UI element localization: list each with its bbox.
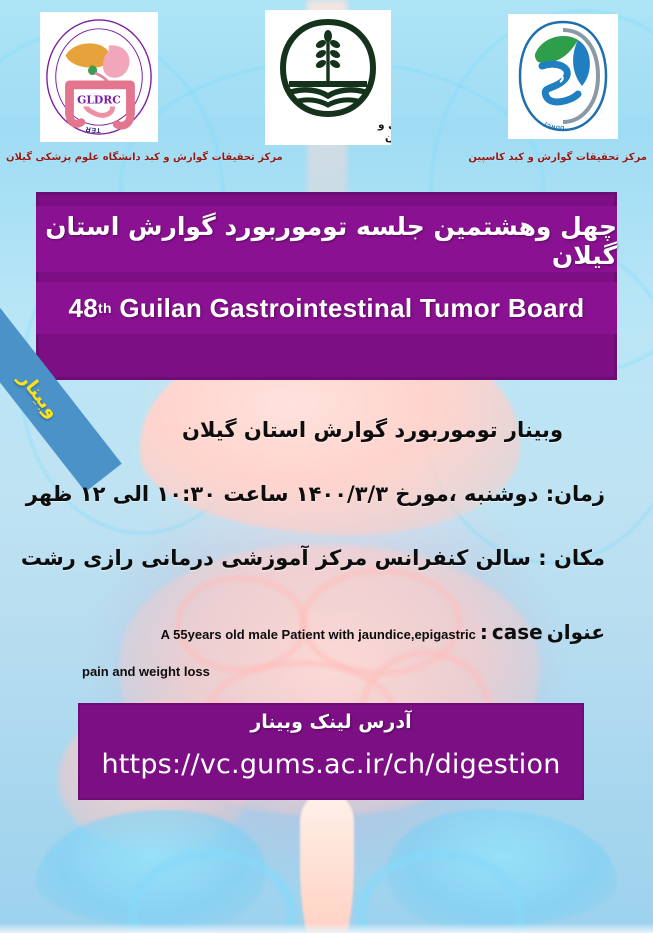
case-colon: : (480, 620, 488, 644)
svg-text:خدمات بهداشتی درمانی استان گیل: خدمات بهداشتی درمانی استان گیلان (385, 131, 391, 144)
title-banner: چهل وهشتمین جلسه توموربورد گوارش استان گ… (36, 192, 617, 380)
webinar-link-title: آدرس لینک وبینار (78, 711, 584, 733)
case-description-line1: A 55years old male Patient with jaundice… (161, 627, 476, 642)
rectum-illustration (300, 794, 354, 933)
gums-logo-graphic: دانشگاه علوم پزشکی و خدمات بهداشتی درمان… (265, 10, 391, 145)
webinar-link-url[interactable]: https://vc.gums.ac.ir/ch/digestion (78, 749, 584, 780)
bottom-fade (0, 923, 653, 933)
title-farsi: چهل وهشتمین جلسه توموربورد گوارش استان گ… (36, 210, 617, 272)
case-word: case (492, 620, 543, 644)
poster: GLDRC GASTROINTESTINAL AND LIVER DISEASE… (0, 0, 653, 933)
event-time-line: زمان: دوشنبه ،مورخ ۱۴۰۰/۳/۳ ساعت ۱۰:۳۰ ا… (26, 482, 605, 506)
svg-text:دانشگاه علوم پزشکی و: دانشگاه علوم پزشکی و (377, 118, 391, 131)
case-label: عنوان (547, 620, 605, 644)
title-ordinal-number: 48 (69, 293, 99, 324)
case-title-row: عنوان case : A 55years old male Patient … (161, 620, 605, 644)
case-description-line2: pain and weight loss (82, 664, 210, 679)
pelvis-illustration (0, 798, 653, 933)
event-place-line: مکان : سالن کنفرانس مرکز آموزشی درمانی ر… (21, 546, 605, 570)
webinar-title-line: وبینار توموربورد گوارش استان گیلان (182, 418, 563, 442)
svg-text:GLDRC: GLDRC (77, 94, 121, 107)
gldrc-caption: مرکز تحقیقات گوارش و کبد دانشگاه علوم پز… (6, 152, 283, 163)
webinar-link-box: آدرس لینک وبینار https://vc.gums.ac.ir/c… (78, 703, 584, 800)
logo-header-row: GLDRC GASTROINTESTINAL AND LIVER DISEASE… (0, 0, 653, 180)
title-english: 48th Guilan Gastrointestinal Tumor Board (36, 284, 617, 332)
title-english-rest: Guilan Gastrointestinal Tumor Board (119, 293, 584, 324)
cddrc-logo-graphic: Caspian Digestive Diseases Research Cent… (508, 14, 618, 139)
cddrc-logo: Caspian Digestive Diseases Research Cent… (508, 14, 618, 139)
gldrc-logo-graphic: GLDRC GASTROINTESTINAL AND LIVER DISEASE… (40, 12, 158, 142)
cddrc-caption: مرکز تحقیقات گوارش و کبد کاسپین (468, 152, 647, 163)
title-ordinal-suffix: th (98, 300, 112, 316)
gums-logo: دانشگاه علوم پزشکی و خدمات بهداشتی درمان… (265, 10, 391, 145)
gldrc-logo: GLDRC GASTROINTESTINAL AND LIVER DISEASE… (40, 12, 158, 142)
